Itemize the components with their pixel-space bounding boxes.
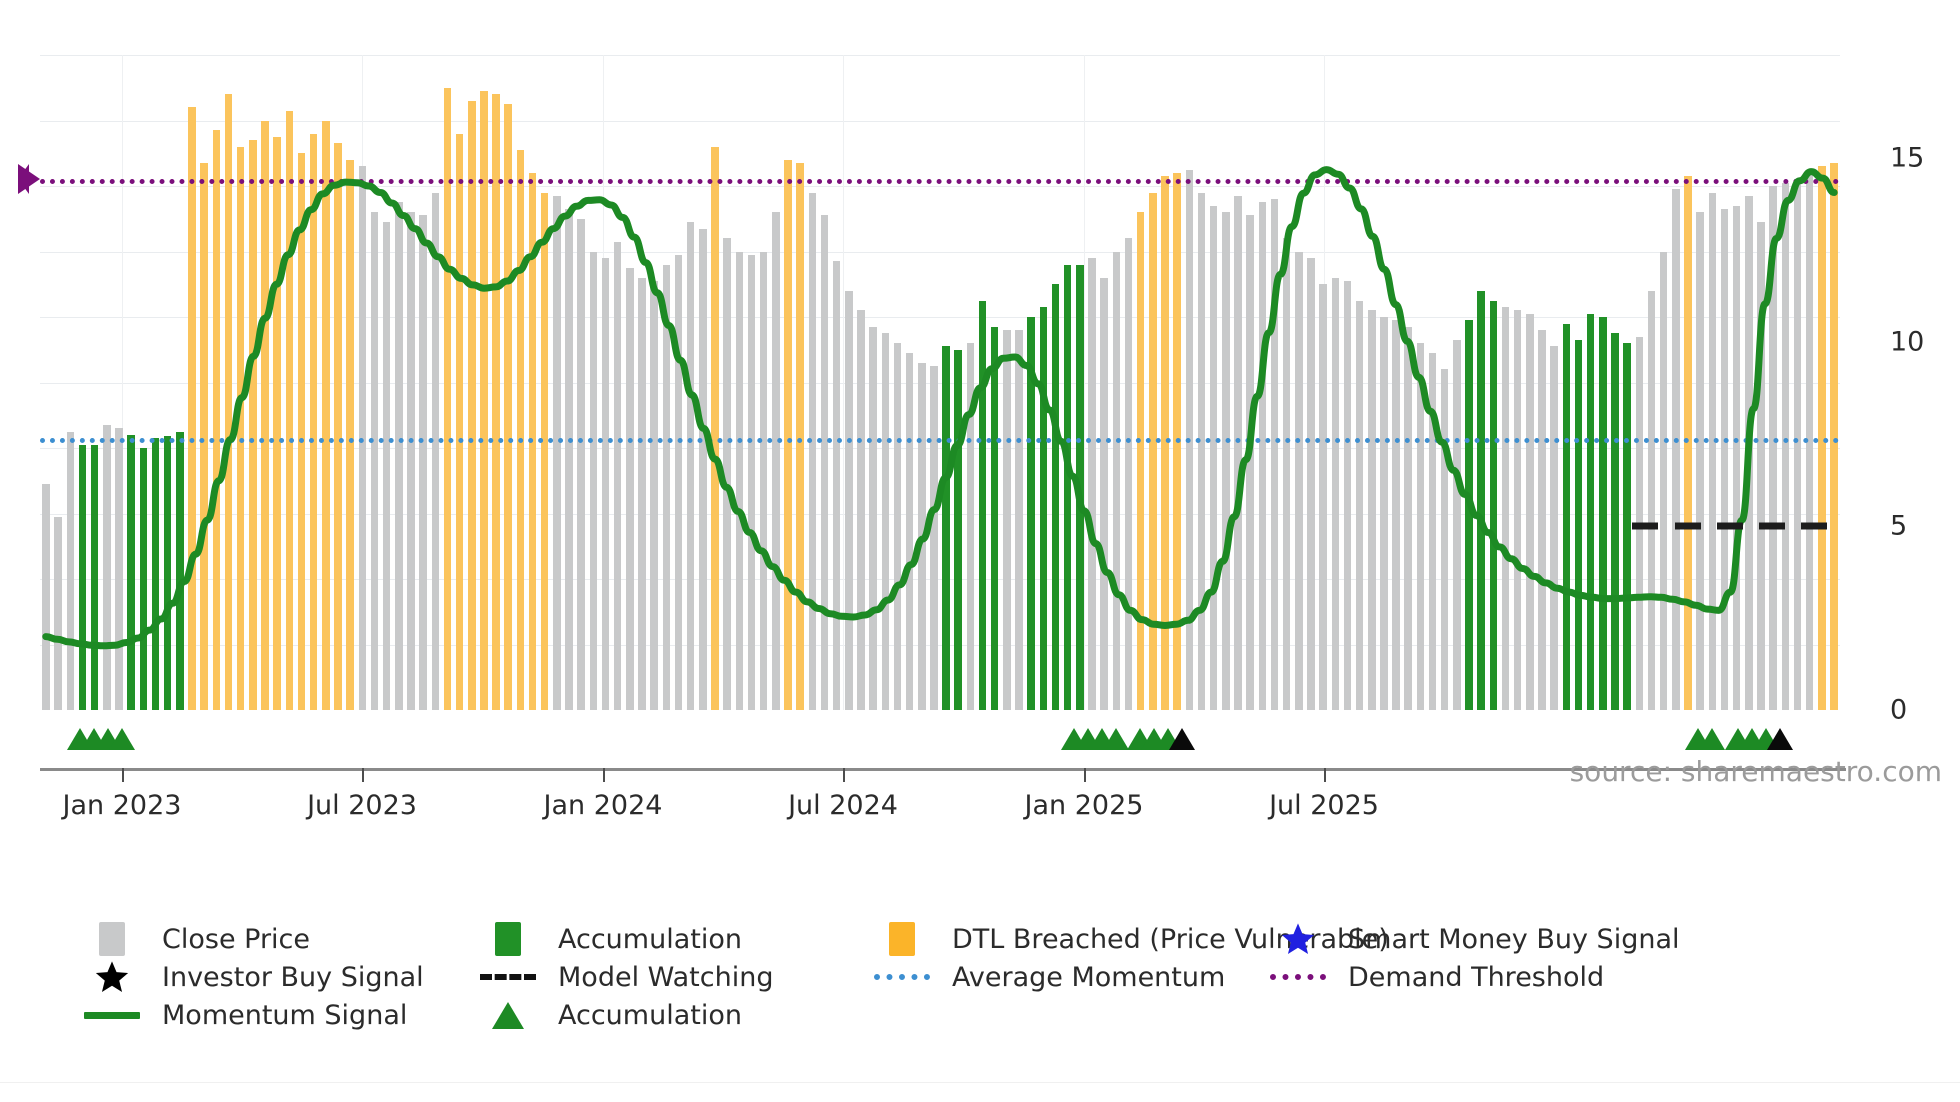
bottom-divider bbox=[0, 1082, 1960, 1083]
x-axis-tick bbox=[843, 768, 845, 782]
swatch-square-icon bbox=[889, 922, 915, 956]
investor-buy-signal-triangle bbox=[1767, 728, 1793, 750]
legend-item[interactable]: Accumulation bbox=[480, 996, 742, 1034]
x-axis-tick-label: Jul 2023 bbox=[307, 790, 417, 821]
swatch-dotted-line-icon bbox=[1270, 974, 1326, 980]
legend-item-label: Smart Money Buy Signal bbox=[1348, 924, 1680, 955]
model-watching-dash bbox=[1632, 523, 1658, 530]
legend-row-2: Investor Buy SignalModel WatchingAverage… bbox=[84, 958, 1884, 996]
x-axis-tick bbox=[122, 768, 124, 782]
plot-region: 00.20.40.60.81 051015 bbox=[40, 55, 1840, 710]
legend-item[interactable]: Investor Buy Signal bbox=[84, 958, 424, 996]
x-axis-tick bbox=[1084, 768, 1086, 782]
x-axis-tick bbox=[1324, 768, 1326, 782]
model-watching-dash bbox=[1717, 523, 1743, 530]
demand-threshold-marker bbox=[18, 164, 40, 194]
legend-item[interactable]: Model Watching bbox=[480, 958, 773, 996]
x-axis-tick bbox=[603, 768, 605, 782]
star-icon bbox=[95, 960, 129, 994]
right-axis-tick-label: 5 bbox=[1890, 511, 1907, 542]
accumulation-triangle bbox=[109, 728, 135, 750]
legend-item[interactable]: Accumulation bbox=[480, 920, 742, 958]
right-axis-tick-label: 10 bbox=[1890, 327, 1924, 358]
x-axis-tick-label: Jul 2024 bbox=[788, 790, 898, 821]
swatch-square-icon bbox=[495, 922, 521, 956]
right-axis-tick-label: 15 bbox=[1890, 143, 1924, 174]
right-axis-tick-label: 0 bbox=[1890, 695, 1907, 726]
legend-item-label: Accumulation bbox=[558, 1000, 742, 1031]
x-axis-tick-label: Jul 2025 bbox=[1269, 790, 1379, 821]
chart-legend: Close PriceAccumulationDTL Breached (Pri… bbox=[84, 920, 1884, 1034]
investor-buy-signal-triangle bbox=[1169, 728, 1195, 750]
legend-item-label: Average Momentum bbox=[952, 962, 1225, 993]
swatch-square-icon bbox=[99, 922, 125, 956]
accumulation-triangle bbox=[1699, 728, 1725, 750]
swatch-dashed-line-icon bbox=[480, 974, 536, 980]
model-watching-dash bbox=[1801, 523, 1827, 530]
x-axis-tick-label: Jan 2025 bbox=[1025, 790, 1144, 821]
legend-row-1: Close PriceAccumulationDTL Breached (Pri… bbox=[84, 920, 1884, 958]
legend-item[interactable]: Momentum Signal bbox=[84, 996, 407, 1034]
x-axis-tick bbox=[362, 768, 364, 782]
swatch-dotted-line-icon bbox=[874, 974, 930, 980]
swatch-triangle-icon bbox=[492, 1002, 524, 1029]
legend-row-3: Momentum SignalAccumulation bbox=[84, 996, 1884, 1034]
legend-item-label: Close Price bbox=[162, 924, 310, 955]
legend-item-label: Momentum Signal bbox=[162, 1000, 407, 1031]
legend-item[interactable]: Smart Money Buy Signal bbox=[1270, 920, 1680, 958]
legend-item-label: Accumulation bbox=[558, 924, 742, 955]
legend-item-label: Investor Buy Signal bbox=[162, 962, 424, 993]
legend-item-label: Demand Threshold bbox=[1348, 962, 1604, 993]
model-watching-dash bbox=[1675, 523, 1701, 530]
momentum-signal-line bbox=[40, 55, 1840, 710]
source-caption: source: sharemaestro.com bbox=[1570, 755, 1942, 788]
legend-item[interactable]: Average Momentum bbox=[874, 958, 1225, 996]
accumulation-triangle bbox=[1103, 728, 1129, 750]
plot-area bbox=[40, 55, 1840, 710]
legend-item-label: Model Watching bbox=[558, 962, 773, 993]
model-watching-dash bbox=[1759, 523, 1785, 530]
x-axis-tick-label: Jan 2023 bbox=[63, 790, 182, 821]
swatch-line-icon bbox=[84, 1012, 140, 1019]
chart-root: 00.20.40.60.81 051015 Jan 2023Jul 2023Ja… bbox=[0, 0, 1960, 1102]
star-icon bbox=[1281, 922, 1315, 956]
legend-item[interactable]: Close Price bbox=[84, 920, 310, 958]
x-axis-tick-label: Jan 2024 bbox=[544, 790, 663, 821]
legend-item[interactable]: Demand Threshold bbox=[1270, 958, 1604, 996]
